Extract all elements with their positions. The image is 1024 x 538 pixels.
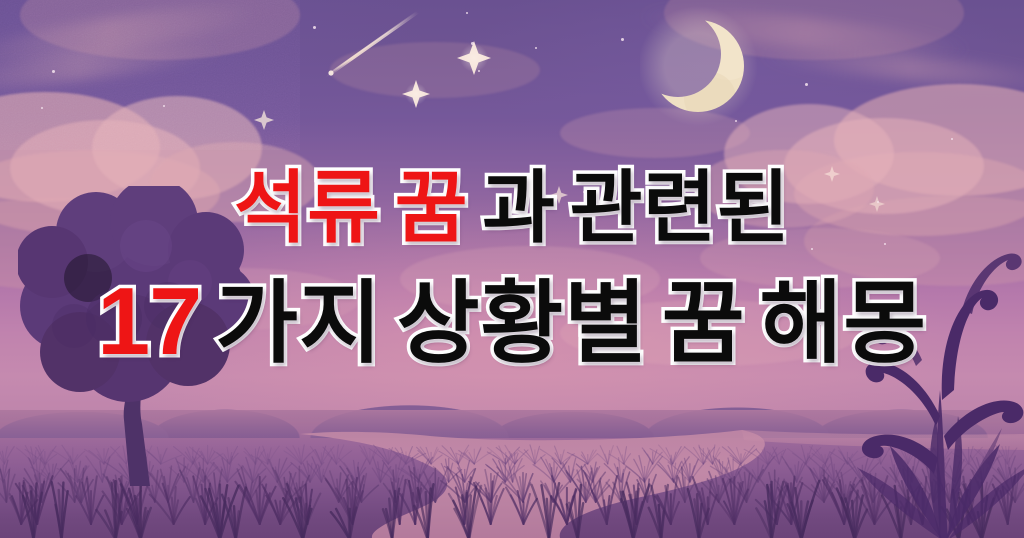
title-word: 꿈	[662, 279, 746, 369]
star-icon	[313, 26, 316, 29]
title-line-2: 17가지상황별꿈해몽	[0, 275, 1024, 370]
star-icon	[466, 12, 468, 14]
title-word: 상황별	[397, 279, 648, 369]
title-count: 17	[97, 275, 201, 370]
title-word: 해몽	[760, 279, 927, 369]
title-word: 석류	[234, 168, 381, 247]
star-icon	[621, 38, 624, 41]
title-word: 관련된	[570, 168, 790, 247]
star-icon	[471, 42, 474, 45]
banner-title: 석류꿈과관련된 17가지상황별꿈해몽	[0, 168, 1024, 370]
title-word: 꿈	[395, 168, 468, 247]
title-word: 가지	[215, 279, 382, 369]
title-word: 과	[482, 168, 555, 247]
crescent-moon-icon	[640, 6, 760, 126]
star-icon	[478, 70, 480, 72]
title-line-1: 석류꿈과관련된	[0, 168, 1024, 247]
star-icon	[535, 47, 537, 49]
dream-interpretation-banner: 석류꿈과관련된 17가지상황별꿈해몽	[0, 0, 1024, 538]
star-icon	[41, 107, 43, 109]
star-icon	[805, 83, 808, 86]
star-icon	[163, 105, 165, 107]
star-icon	[951, 138, 953, 140]
star-icon	[52, 70, 55, 73]
